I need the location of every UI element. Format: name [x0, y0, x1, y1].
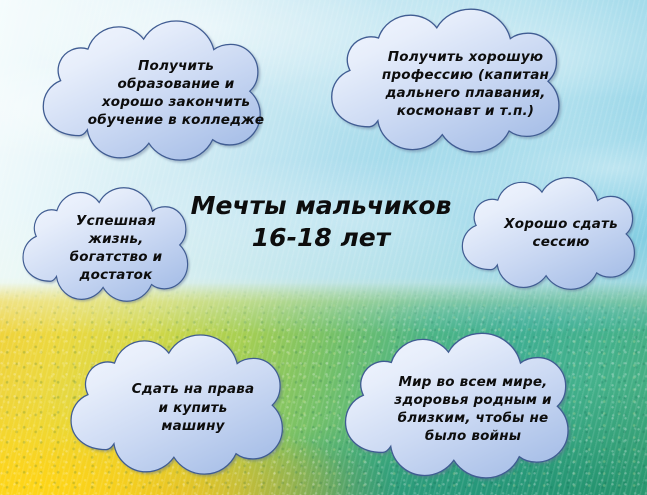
slide-canvas: Получить образование и хорошо закончить … — [0, 0, 647, 495]
cloud-exams-shape — [455, 172, 639, 294]
cloud-car-shape — [62, 328, 288, 480]
cloud-peace-shape — [336, 326, 574, 484]
cloud-education-shape — [34, 14, 266, 166]
page-title: Мечты мальчиков 16-18 лет — [176, 190, 466, 254]
cloud-car[interactable]: Сдать на права и купить машину — [62, 328, 288, 480]
cloud-profession[interactable]: Получить хорошую профессию (капитан даль… — [322, 2, 565, 158]
cloud-prosperity[interactable]: Успешная жизнь, богатство и достаток — [16, 182, 192, 306]
cloud-education[interactable]: Получить образование и хорошо закончить … — [34, 14, 266, 166]
cloud-exams[interactable]: Хорошо сдать сессию — [455, 172, 639, 294]
cloud-peace[interactable]: Мир во всем мире, здоровья родным и близ… — [336, 326, 574, 484]
cloud-profession-shape — [322, 2, 565, 158]
cloud-prosperity-shape — [16, 182, 192, 306]
